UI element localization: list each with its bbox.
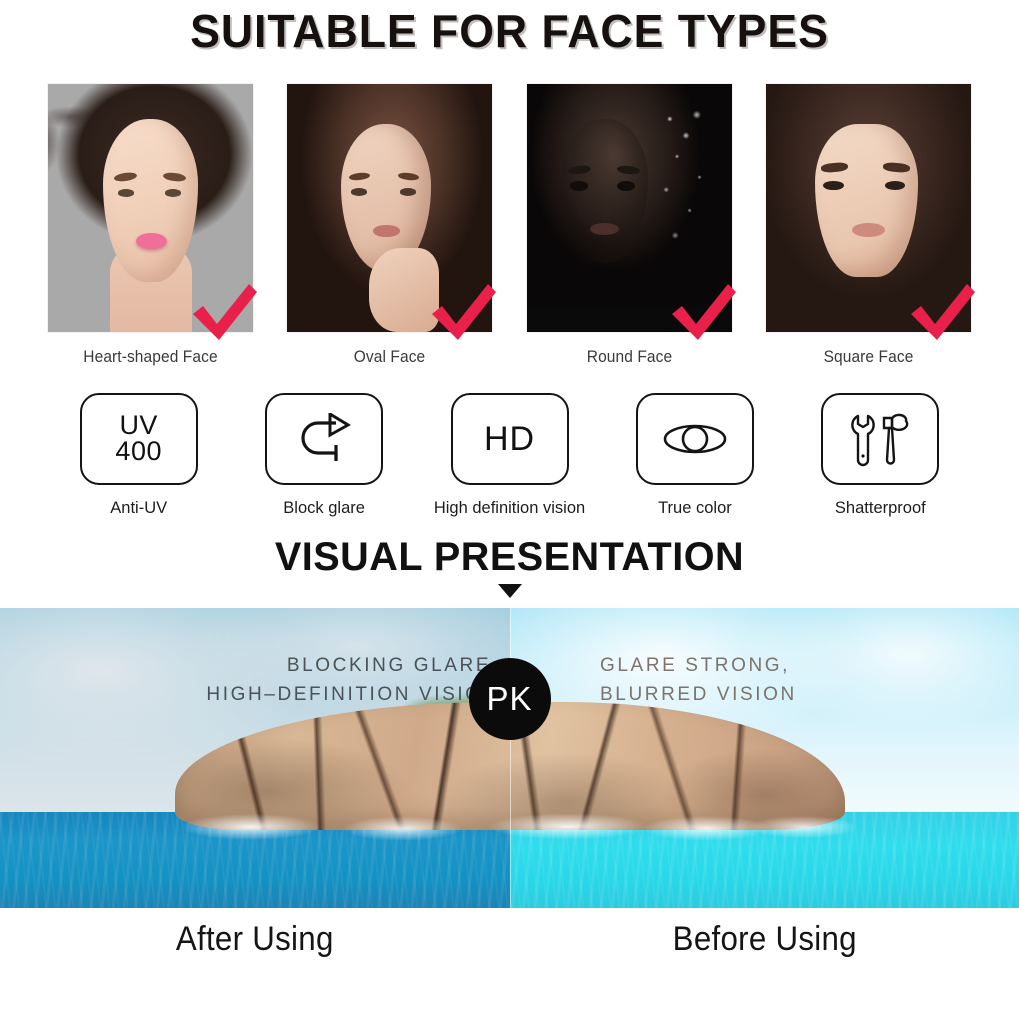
u-turn-arrow-icon (265, 393, 383, 485)
caption-before-using: GLARE STRONG, BLURRED VISION (600, 652, 797, 709)
feature-block-glare[interactable]: Block glare (231, 393, 416, 518)
face-type-card[interactable]: Square Face (766, 84, 971, 367)
feature-true-color[interactable]: True color (602, 393, 787, 518)
feature-shatterproof[interactable]: Shatterproof (788, 393, 973, 518)
feature-label: Anti-UV (110, 499, 167, 518)
hd-icon: HD (451, 393, 569, 485)
eye-icon (636, 393, 754, 485)
check-icon (666, 274, 740, 348)
feature-label: Shatterproof (835, 499, 926, 518)
feature-anti-uv[interactable]: UV 400 Anti-UV (46, 393, 231, 518)
pk-badge: PK (469, 658, 551, 740)
feature-label: True color (658, 499, 732, 518)
label-after-using: After Using (20, 920, 489, 959)
wrench-hammer-icon (821, 393, 939, 485)
feature-label: High definition vision (434, 499, 585, 518)
comparison-labels-row: After Using Before Using (0, 908, 1019, 970)
face-type-label: Oval Face (293, 348, 486, 367)
visual-presentation-section: VISUAL PRESENTATION (0, 536, 1019, 598)
face-type-label: Heart-shaped Face (54, 348, 247, 367)
check-icon (905, 274, 979, 348)
face-type-card[interactable]: Round Face (527, 84, 732, 367)
face-type-card[interactable]: Heart-shaped Face (48, 84, 253, 367)
feature-label: Block glare (283, 499, 365, 518)
sea-foam (168, 814, 858, 840)
face-type-label: Square Face (772, 348, 965, 367)
face-type-label: Round Face (533, 348, 726, 367)
face-type-card[interactable]: Oval Face (287, 84, 492, 367)
feature-high-definition-vision[interactable]: HD High definition vision (417, 393, 602, 518)
caption-after-using: BLOCKING GLARE, HIGH–DEFINITION VISION (206, 652, 499, 709)
face-photo-frame (48, 84, 253, 332)
uv400-icon: UV 400 (80, 393, 198, 485)
triangle-down-icon (498, 584, 522, 598)
face-photo-frame (287, 84, 492, 332)
label-before-using: Before Using (530, 920, 999, 959)
feature-icons-row: UV 400 Anti-UV Block glare HD High defin… (0, 393, 1019, 518)
page-title: SUITABLE FOR FACE TYPES (15, 0, 1003, 62)
split-divider (510, 608, 511, 908)
check-icon (187, 274, 261, 348)
visual-presentation-title: VISUAL PRESENTATION (5, 536, 1014, 578)
check-icon (426, 274, 500, 348)
face-types-row: Heart-shaped Face Oval Face (0, 84, 1019, 367)
face-photo-frame (766, 84, 971, 332)
uv-badge-line2: 400 (115, 439, 162, 465)
hd-badge-text: HD (484, 420, 535, 459)
comparison-scene: BLOCKING GLARE, HIGH–DEFINITION VISION G… (0, 608, 1019, 908)
face-photo-frame (527, 84, 732, 332)
